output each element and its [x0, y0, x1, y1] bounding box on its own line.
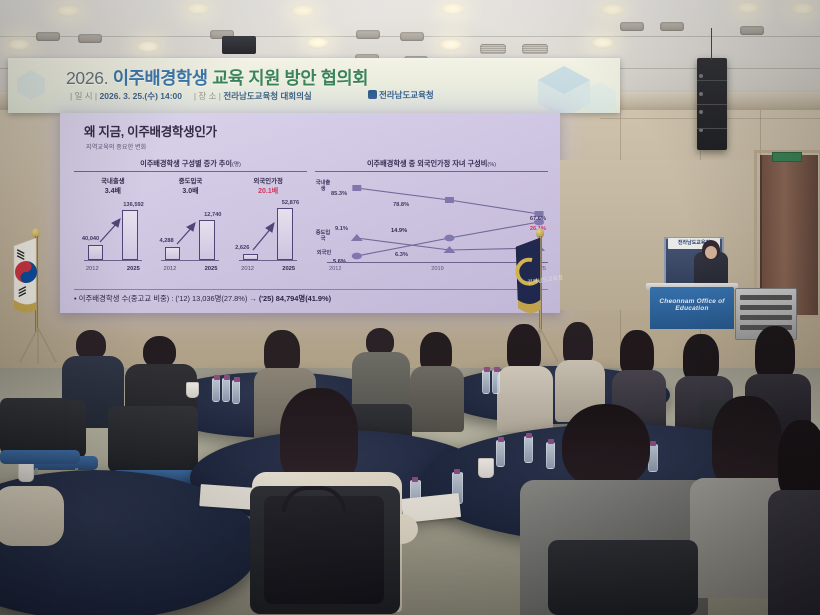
bar-chart-title: 이주배경학생 구성별 증가 추이(명): [74, 159, 307, 172]
bar-value-2025: 12,740: [204, 212, 221, 218]
banner-subtitle: | 일 시 | 2026. 3. 25.(수) 14:00 | 장 소 | 전라…: [70, 90, 520, 102]
bar-value-2012: 40,040: [82, 236, 99, 242]
paper-cup: [186, 382, 199, 398]
ceiling-air-grille: [522, 44, 548, 54]
bar-groups: 국내출생 3.4배 40,040 136,592: [74, 176, 307, 272]
bar-group: 중도입국 3.0배 4,288 12,740: [159, 176, 221, 272]
bar-2012: [88, 245, 103, 260]
bar-value-2025: 52,876: [282, 200, 299, 206]
water-bottle: [222, 378, 230, 402]
banner-title: 2026. 이주배경학생 교육 지원 방안 협의회: [66, 65, 506, 90]
bar-group-label: 국내출생: [82, 176, 144, 185]
podium-label: Cheonnam Office of Education: [654, 298, 730, 312]
bar-group-bars: 2,626 52,876: [237, 204, 299, 260]
bar-group-bars: 40,040 136,592: [82, 204, 144, 260]
korean-flag-taegukgi-icon: [12, 238, 66, 316]
bar-2025: [122, 210, 138, 260]
bar-year-2012: 2012: [163, 266, 176, 272]
water-bottle: [524, 436, 533, 463]
presenter-face: [705, 246, 717, 259]
line-value-midentry-2019: 6.3%: [395, 252, 408, 258]
bar-group-multiplier: 20.1배: [237, 186, 299, 196]
banner-cube-graphic: [504, 60, 620, 113]
bar-year-2025: 2025: [282, 266, 295, 272]
growth-arrow-icon: [251, 222, 279, 252]
ceiling-vent: [660, 22, 684, 31]
hanging-speaker: [697, 58, 727, 150]
slide-footnote-prefix: • 이주배경학생 수(중고교 비중) : ('12) 13,036명(27.8%…: [74, 294, 247, 303]
flag-tripod-base: [14, 328, 64, 368]
bar-2025: [199, 220, 215, 260]
line-value-midentry-2012: 9.1%: [335, 226, 348, 232]
bar-value-2012: 2,626: [235, 245, 249, 251]
bar-year-2025: 2025: [205, 266, 218, 272]
conference-room-photo: 2026. 이주배경학생 교육 지원 방안 협의회 | 일 시 | 2026. …: [0, 0, 820, 615]
water-bottle: [492, 370, 500, 394]
line-value-domestic-2025: 67.6%: [530, 216, 546, 222]
banner-datetime-label: | 일 시 |: [70, 91, 97, 101]
wall-speaker-small: [222, 36, 256, 54]
bar-group-multiplier: 3.4배: [82, 186, 144, 196]
bar-year-2012: 2012: [241, 266, 254, 272]
slide-subtitle: 지역교육의 중요한 변화: [86, 142, 548, 151]
slide-title: 왜 지금, 이주배경학생인가: [84, 121, 548, 140]
ceiling-air-grille: [480, 44, 506, 54]
banner-organization: 전라남도교육청: [368, 89, 434, 101]
ceiling-downlight: [438, 38, 464, 51]
speaker-suspension-cable: [711, 28, 712, 60]
bar-group-years: 2012 2025: [159, 266, 221, 272]
banner-title-rest: 교육 지원 방안 협의회: [212, 68, 368, 88]
banner-place-value: 전라남도교육청 대회의실: [223, 91, 311, 101]
bar-chart: 이주배경학생 구성별 증가 추이(명) 국내출생 3.4배 40,040 136…: [74, 159, 307, 271]
bar-2025: [277, 208, 293, 260]
banner-year: 2026.: [66, 68, 108, 88]
ceiling-vent: [740, 26, 764, 35]
water-bottle: [482, 370, 490, 394]
water-bottle: [496, 440, 505, 467]
education-office-logo-icon: [368, 90, 377, 99]
bar-group-multiplier: 3.0배: [159, 186, 221, 196]
bar-2012: [165, 247, 180, 260]
slide-charts: 이주배경학생 구성별 증가 추이(명) 국내출생 3.4배 40,040 136…: [74, 159, 548, 271]
line-chart-title: 이주배경학생 중 외국인가정 자녀 구성비(%): [315, 159, 548, 172]
slide-footnote-arrow: →: [249, 294, 256, 303]
water-bottle: [546, 442, 555, 469]
bar-chart-title-text: 이주배경학생 구성별 증가 추이: [140, 159, 232, 168]
ceiling-downlight: [305, 36, 331, 49]
ceiling-downlight: [290, 4, 316, 17]
line-x-2019: 2019: [431, 266, 443, 272]
bar-year-2012: 2012: [86, 266, 99, 272]
ceiling-downlight: [6, 38, 32, 51]
bar-group-label: 중도입국: [159, 176, 221, 185]
slide-footnote: • 이주배경학생 수(중고교 비중) : ('12) 13,036명(27.8%…: [74, 289, 548, 304]
exit-sign: [772, 152, 802, 162]
line-chart-unit: (%): [487, 162, 496, 168]
ceiling-vent: [356, 30, 380, 39]
coat-on-table: [0, 486, 64, 546]
line-value-domestic-2012: 85.3%: [331, 191, 347, 197]
bar-group-bars: 4,288 12,740: [159, 204, 221, 260]
banner-place-label: | 장 소 |: [194, 91, 221, 101]
projection-screen: 왜 지금, 이주배경학생인가 지역교육의 중요한 변화 이주배경학생 구성별 증…: [60, 113, 560, 313]
bar-group: 외국인가정 20.1배 2,626 52,876: [237, 176, 299, 272]
water-bottle: [232, 380, 240, 404]
handbag: [264, 496, 384, 604]
presentation-slide: 왜 지금, 이주배경학생인가 지역교육의 중요한 변화 이주배경학생 구성별 증…: [60, 113, 560, 313]
ceiling-downlight: [135, 40, 161, 53]
handout-paper: [199, 484, 256, 510]
slide-footnote-suffix: ('25) 84,794명(41.9%): [259, 294, 331, 303]
ceiling-downlight: [185, 2, 211, 15]
line-value-foreign-2019: 14.9%: [391, 228, 407, 234]
banner-cube-graphic-small: [14, 68, 48, 102]
line-x-2012: 2012: [329, 266, 341, 272]
bar-year-2025: 2025: [127, 266, 140, 272]
ceiling-downlight: [600, 3, 626, 16]
bar-group-years: 2012 2025: [82, 266, 144, 272]
bar-group-label: 외국인가정: [237, 176, 299, 185]
line-value-domestic-2019: 78.8%: [393, 202, 409, 208]
banner-title-main: 이주배경학생: [113, 68, 208, 88]
organization-flag-icon: 전라남도교육청: [510, 238, 568, 318]
bar-value-2025: 136,592: [123, 202, 144, 208]
growth-arrow-icon: [175, 222, 199, 246]
event-banner: 2026. 이주배경학생 교육 지원 방안 협의회 | 일 시 | 2026. …: [8, 58, 620, 113]
banner-org-name: 전라남도교육청: [379, 90, 434, 100]
bar-group: 국내출생 3.4배 40,040 136,592: [82, 176, 144, 272]
bar-value-2012: 4,288: [159, 238, 173, 244]
water-bottle: [212, 378, 220, 402]
ceiling-vent: [620, 22, 644, 31]
paper-cup: [478, 458, 494, 478]
ceiling-downlight: [440, 2, 466, 15]
ceiling-vent: [400, 32, 424, 41]
paper-cup: [18, 462, 34, 482]
bar-group-years: 2012 2025: [237, 266, 299, 272]
ceiling-vent: [36, 32, 60, 41]
ceiling-downlight: [55, 4, 81, 17]
ceiling-vent: [78, 34, 102, 43]
ceiling-downlight: [735, 1, 761, 14]
ceiling-downlight: [590, 36, 616, 49]
line-chart-title-text: 이주배경학생 중 외국인가정 자녀 구성비: [367, 159, 487, 168]
growth-arrow-icon: [98, 218, 124, 244]
ceiling-downlight: [790, 2, 816, 15]
bar-chart-unit: (명): [232, 162, 241, 168]
banner-datetime-value: 2026. 3. 25.(수) 14:00: [100, 91, 182, 101]
